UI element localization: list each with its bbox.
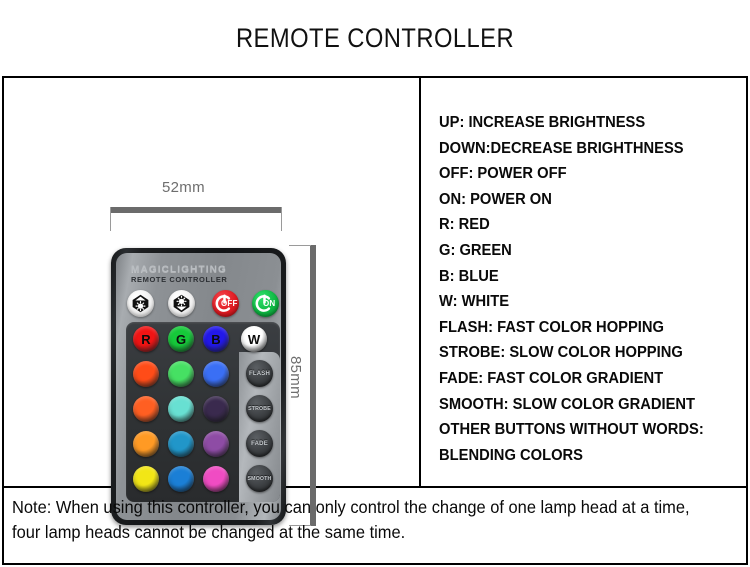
- remote-controller-device: MAGICLIGHTING REMOTE CONTROLLER: [111, 248, 286, 525]
- remote-color-button-10[interactable]: [203, 396, 229, 422]
- remote-power-on-label: ON: [263, 299, 275, 308]
- instructions-list: UP: INCREASE BRIGHTNESSDOWN:DECREASE BRI…: [439, 110, 748, 468]
- remote-color-button-b[interactable]: B: [203, 326, 229, 352]
- instruction-line: B: BLUE: [439, 264, 733, 290]
- remote-color-button-8[interactable]: [133, 396, 159, 422]
- dimension-width-bar: [110, 207, 282, 213]
- instruction-line: BLENDING COLORS: [439, 443, 733, 469]
- remote-color-button-r[interactable]: R: [133, 326, 159, 352]
- remote-function-button-fade[interactable]: FADE: [246, 430, 273, 457]
- instruction-line: R: RED: [439, 212, 733, 238]
- instruction-line: FLASH: FAST COLOR HOPPING: [439, 315, 733, 341]
- remote-color-button-w[interactable]: W: [241, 326, 267, 352]
- remote-color-button-label: W: [248, 332, 260, 347]
- dimension-height-tick-top: [289, 245, 311, 246]
- dimension-width-tick-right: [281, 207, 282, 231]
- product-photo-panel: 52mm 85mm MAGICLIGHTING REMOTE CONTROLLE…: [4, 78, 419, 486]
- remote-keypad: RGBW FLASHSTROBEFADESMOOTH: [126, 322, 280, 502]
- remote-power-off-label: OFF: [221, 299, 238, 308]
- remote-function-button-flash[interactable]: FLASH: [246, 360, 273, 387]
- remote-color-button-label: G: [176, 332, 186, 347]
- remote-function-button-strobe[interactable]: STROBE: [246, 395, 273, 422]
- main-content-box: 52mm 85mm MAGICLIGHTING REMOTE CONTROLLE…: [2, 76, 748, 488]
- remote-function-button-label: STROBE: [248, 406, 271, 412]
- instruction-line: W: WHITE: [439, 289, 733, 315]
- note-box: Note: When using this controller, you ca…: [2, 488, 748, 565]
- brightness-down-icon: [171, 293, 192, 314]
- instruction-line: UP: INCREASE BRIGHTNESS: [439, 110, 733, 136]
- dimension-width-label: 52mm: [162, 179, 205, 196]
- remote-faceplate: MAGICLIGHTING REMOTE CONTROLLER: [116, 253, 281, 520]
- remote-brightness-down-button[interactable]: [168, 290, 195, 317]
- brightness-up-icon: [130, 293, 151, 314]
- remote-color-button-label: R: [141, 332, 150, 347]
- instruction-line: ON: POWER ON: [439, 187, 733, 213]
- remote-color-button-7[interactable]: [203, 361, 229, 387]
- instruction-line: STROBE: SLOW COLOR HOPPING: [439, 340, 733, 366]
- instruction-line: OTHER BUTTONS WITHOUT WORDS:: [439, 417, 733, 443]
- instruction-line: FADE: FAST COLOR GRADIENT: [439, 366, 733, 392]
- remote-subtitle-label: REMOTE CONTROLLER: [131, 275, 227, 284]
- remote-function-button-label: FLASH: [249, 371, 270, 377]
- remote-color-button-label: B: [211, 332, 220, 347]
- page-title-bar: REMOTE CONTROLLER: [0, 0, 750, 76]
- remote-color-button-5[interactable]: [133, 361, 159, 387]
- note-text: Note: When using this controller, you ca…: [12, 495, 693, 545]
- remote-brightness-up-button[interactable]: [127, 290, 154, 317]
- instruction-line: G: GREEN: [439, 238, 733, 264]
- remote-color-button-9[interactable]: [168, 396, 194, 422]
- dimension-height-bar: [310, 245, 316, 526]
- remote-function-button-label: FADE: [251, 441, 268, 447]
- instructions-panel: UP: INCREASE BRIGHTNESSDOWN:DECREASE BRI…: [421, 78, 748, 486]
- dimension-height-label: 85mm: [287, 356, 304, 399]
- instruction-line: SMOOTH: SLOW COLOR GRADIENT: [439, 392, 733, 418]
- remote-brand-label: MAGICLIGHTING: [131, 264, 227, 275]
- page-title: REMOTE CONTROLLER: [236, 23, 514, 54]
- remote-power-on-button[interactable]: ON: [252, 290, 279, 317]
- remote-color-button-g[interactable]: G: [168, 326, 194, 352]
- remote-function-button-label: SMOOTH: [248, 476, 272, 482]
- remote-power-off-button[interactable]: OFF: [212, 290, 239, 317]
- remote-color-button-6[interactable]: [168, 361, 194, 387]
- dimension-width-tick-left: [110, 207, 111, 231]
- instruction-line: DOWN:DECREASE BRIGHTHNESS: [439, 136, 733, 162]
- remote-color-button-11[interactable]: [133, 431, 159, 457]
- remote-color-button-12[interactable]: [168, 431, 194, 457]
- product-info-page: REMOTE CONTROLLER 52mm 85mm MAGICLIGHTIN…: [0, 0, 750, 567]
- instruction-line: OFF: POWER OFF: [439, 161, 733, 187]
- remote-color-button-13[interactable]: [203, 431, 229, 457]
- remote-top-button-row: OFF ON: [127, 290, 279, 317]
